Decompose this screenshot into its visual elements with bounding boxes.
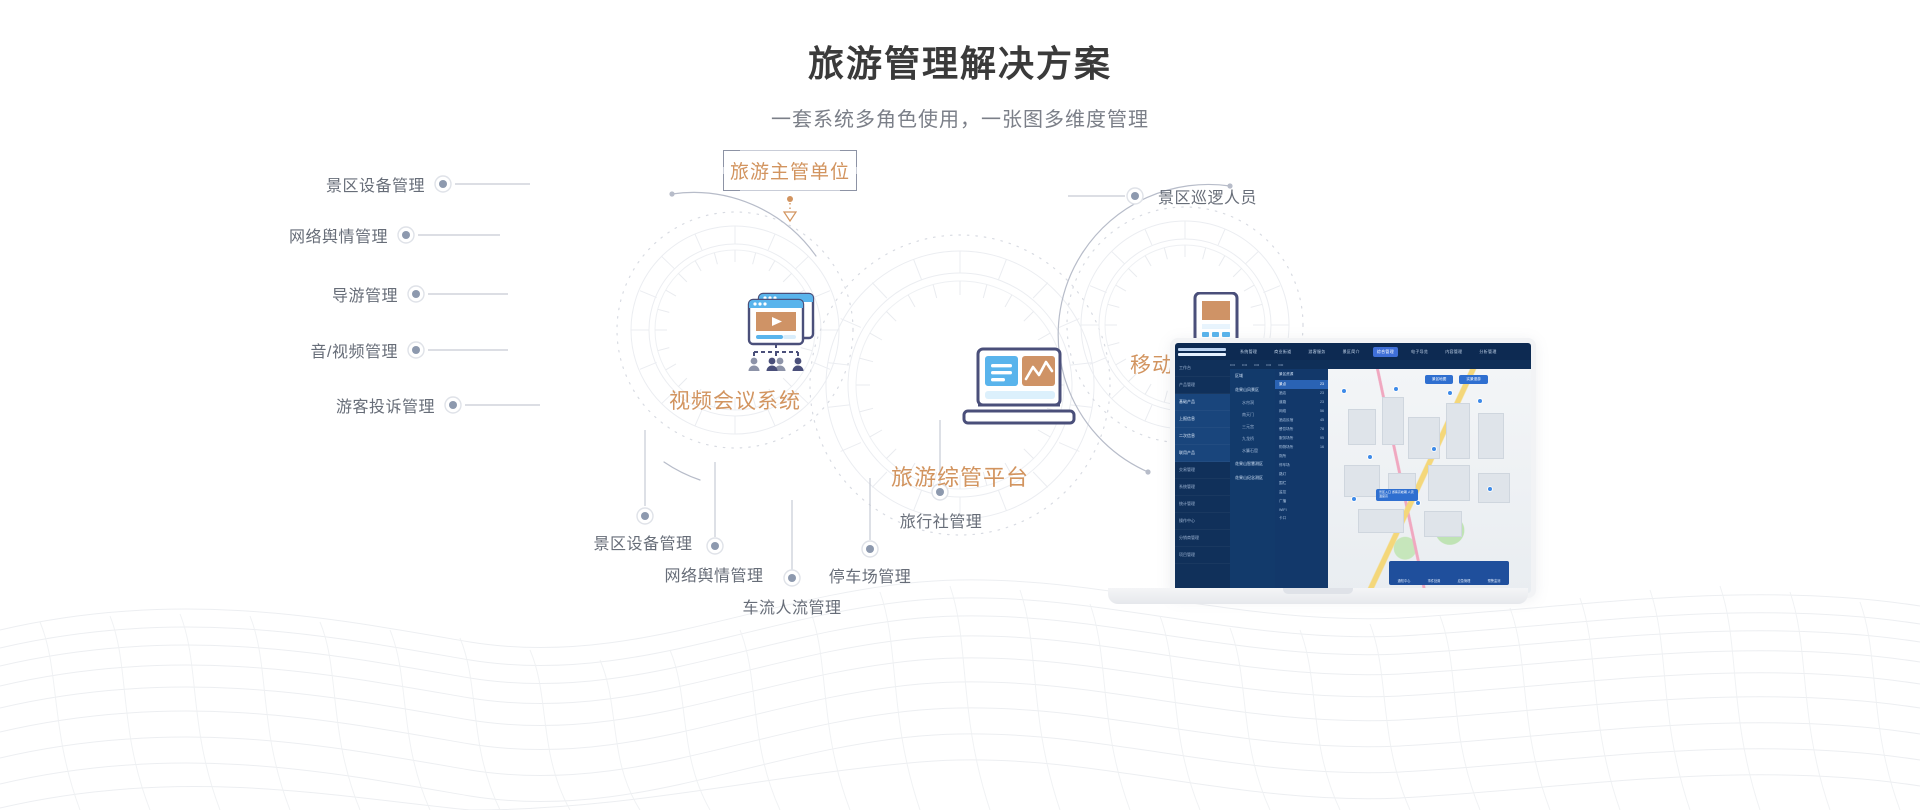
legend-label-0: 景点: [1279, 382, 1286, 387]
nav-item-0[interactable]: 系统管理: [1236, 347, 1261, 357]
sidebar-item-1[interactable]: 产品管理: [1175, 377, 1230, 394]
map-top-buttons: 景区地图 实景漫游: [1425, 375, 1488, 384]
dashboard-nav: 系统管理 商业街道 游客服务 景区简介 综合管理 电子导览 内容管理 分析管理: [1236, 347, 1501, 357]
dashboard-topbar: 系统管理 商业街道 游客服务 景区简介 综合管理 电子导览 内容管理 分析管理: [1175, 343, 1531, 360]
legend-item-15[interactable]: 卡口: [1275, 514, 1328, 523]
label-parking-management[interactable]: 停车场管理: [829, 563, 912, 587]
page-title: 旅游管理解决方案: [0, 0, 1920, 85]
legend-label-7: 购物场所: [1279, 445, 1293, 450]
map-button-0[interactable]: 景区地图: [1425, 375, 1453, 384]
sidebar-item-10[interactable]: 分销商管理: [1175, 530, 1230, 547]
legend-item-0[interactable]: 景点 23: [1275, 380, 1328, 389]
tab-chip-1[interactable]: ••••: [1242, 363, 1247, 367]
box-corner-bottom-right: [840, 174, 857, 191]
ring-title-tourism-platform: 旅游综管平台: [891, 460, 1029, 492]
legend-item-8[interactable]: 厕所: [1275, 452, 1328, 461]
box-corner-bottom-left: [723, 174, 740, 191]
nav-item-7[interactable]: 分析管理: [1475, 347, 1500, 357]
laptop-mockup: 系统管理 商业街道 游客服务 景区简介 综合管理 电子导览 内容管理 分析管理 …: [1108, 338, 1528, 628]
dashboard-sidebar: 工作台 产品管理 基础产品 上报信息 二次信息 联用产品 交易管理 系统管理 统…: [1175, 360, 1230, 593]
nav-item-2[interactable]: 游客服务: [1304, 347, 1329, 357]
label-guide-management[interactable]: 导游管理: [332, 282, 398, 306]
box-corner-top-right: [840, 150, 857, 167]
label-traffic-flow-management[interactable]: 车流人流管理: [742, 594, 841, 618]
sidebar-item-4[interactable]: 二次信息: [1175, 428, 1230, 445]
legend-item-14[interactable]: WIFI: [1275, 506, 1328, 514]
legend-item-1[interactable]: 酒店 23: [1275, 389, 1328, 398]
map-popup[interactable]: 景区入口 游客高峰期 人流温度高: [1376, 489, 1418, 501]
legend-count-3: 56: [1320, 409, 1324, 414]
legend-label-4: 酒店民宿: [1279, 418, 1293, 423]
legend-item-2[interactable]: 道路 23: [1275, 398, 1328, 407]
dock-item-2[interactable]: 应急管理: [1458, 578, 1471, 583]
page-header: 旅游管理解决方案 一套系统多角色使用，一张图多维度管理: [0, 0, 1920, 132]
dashboard-legend-panel: 景区资源 景点 23 酒店 23 道路 23 网络 5: [1275, 369, 1328, 593]
left-connectors: [418, 184, 540, 405]
sidebar-item-0[interactable]: 工作台: [1175, 360, 1230, 377]
nav-item-4-active[interactable]: 综合管理: [1373, 347, 1398, 357]
dock-item-1[interactable]: 事件处置: [1428, 578, 1441, 583]
box-edge-bottom: [739, 190, 841, 191]
dashboard-map[interactable]: 景区入口 游客高峰期 人流温度高: [1328, 369, 1531, 593]
legend-item-6[interactable]: 服务场所 95: [1275, 434, 1328, 443]
box-edge-top: [739, 150, 841, 151]
laptop-notch: [1283, 588, 1353, 594]
sidebar-item-8[interactable]: 统计管理: [1175, 496, 1230, 513]
legend-label-3: 网络: [1279, 409, 1286, 414]
legend-count-1: 23: [1320, 391, 1324, 396]
authority-box[interactable]: 旅游主管单位: [723, 150, 857, 191]
map-tool-dock: 通知中心 事件处置 应急管理 预警监测: [1389, 561, 1509, 585]
label-audio-video-management[interactable]: 音/视频管理: [311, 338, 398, 362]
legend-count-0: 23: [1320, 382, 1324, 387]
legend-item-12[interactable]: 监控: [1275, 488, 1328, 497]
legend-item-3[interactable]: 网络 56: [1275, 407, 1328, 416]
label-network-opinion-management-bottom[interactable]: 网络舆情管理: [664, 562, 763, 586]
tab-chip-4[interactable]: ••••: [1278, 363, 1283, 367]
map-button-1[interactable]: 实景漫游: [1459, 375, 1487, 384]
laptop-screen: 系统管理 商业街道 游客服务 景区简介 综合管理 电子导览 内容管理 分析管理 …: [1170, 338, 1536, 598]
box-corner-top-left: [723, 150, 740, 167]
authority-label: 旅游主管单位: [730, 157, 850, 184]
sidebar-item-7[interactable]: 系统管理: [1175, 479, 1230, 496]
authority-connector: [784, 196, 796, 221]
legend-count-6: 95: [1320, 436, 1324, 441]
dashboard-tab-strip: •••• •••• •••• •••• ••••: [1230, 360, 1531, 369]
ring-title-video-conference: 视频会议系统: [669, 385, 801, 415]
nav-item-5[interactable]: 电子导览: [1407, 347, 1432, 357]
sidebar-item-5[interactable]: 联用产品: [1175, 445, 1230, 462]
dashboard-logo: [1178, 345, 1226, 358]
label-tourist-complaint-management[interactable]: 游客投诉管理: [336, 393, 435, 417]
nav-item-6[interactable]: 内容管理: [1441, 347, 1466, 357]
label-scenic-device-management-bottom[interactable]: 景区设备管理: [593, 530, 692, 554]
legend-label-2: 道路: [1279, 400, 1286, 405]
tab-chip-3[interactable]: ••••: [1266, 363, 1271, 367]
legend-count-7: 16: [1320, 445, 1324, 450]
label-scenic-device-management-left[interactable]: 景区设备管理: [326, 172, 425, 196]
dock-item-3[interactable]: 预警监测: [1488, 578, 1501, 583]
label-scenic-patrol-staff[interactable]: 景区巡逻人员: [1158, 184, 1257, 208]
dashboard-ui: 系统管理 商业街道 游客服务 景区简介 综合管理 电子导览 内容管理 分析管理 …: [1175, 343, 1531, 593]
tab-chip-0[interactable]: ••••: [1230, 363, 1235, 367]
legend-item-5[interactable]: 餐饮场所 78: [1275, 425, 1328, 434]
legend-count-4: 45: [1320, 418, 1324, 423]
page-subtitle: 一套系统多角色使用，一张图多维度管理: [0, 85, 1920, 132]
legend-label-6: 服务场所: [1279, 436, 1293, 441]
sidebar-item-3[interactable]: 上报信息: [1175, 411, 1230, 428]
tab-chip-2[interactable]: ••••: [1254, 363, 1259, 367]
legend-item-9[interactable]: 停车场: [1275, 461, 1328, 470]
sidebar-item-6[interactable]: 交易管理: [1175, 462, 1230, 479]
legend-item-7[interactable]: 购物场所 16: [1275, 443, 1328, 452]
label-network-opinion-management-left[interactable]: 网络舆情管理: [289, 223, 388, 247]
nav-item-3[interactable]: 景区简介: [1339, 347, 1364, 357]
legend-label-1: 酒店: [1279, 391, 1286, 396]
legend-item-4[interactable]: 酒店民宿 45: [1275, 416, 1328, 425]
sidebar-item-2[interactable]: 基础产品: [1175, 394, 1230, 411]
sidebar-item-11[interactable]: 项目管理: [1175, 547, 1230, 564]
nav-item-1[interactable]: 商业街道: [1270, 347, 1295, 357]
page-root: 旅游管理解决方案 一套系统多角色使用，一张图多维度管理: [0, 0, 1920, 810]
legend-label-5: 餐饮场所: [1279, 427, 1293, 432]
label-travel-agency-management[interactable]: 旅行社管理: [900, 508, 983, 532]
sidebar-item-9[interactable]: 操作中心: [1175, 513, 1230, 530]
legend-item-10[interactable]: 路灯: [1275, 470, 1328, 479]
legend-item-11[interactable]: 围栏: [1275, 479, 1328, 488]
legend-count-2: 23: [1320, 400, 1324, 405]
legend-item-13[interactable]: 广播: [1275, 497, 1328, 506]
legend-count-5: 78: [1320, 427, 1324, 432]
dock-item-0[interactable]: 通知中心: [1398, 578, 1411, 583]
legend-title: 景区资源: [1275, 369, 1328, 380]
